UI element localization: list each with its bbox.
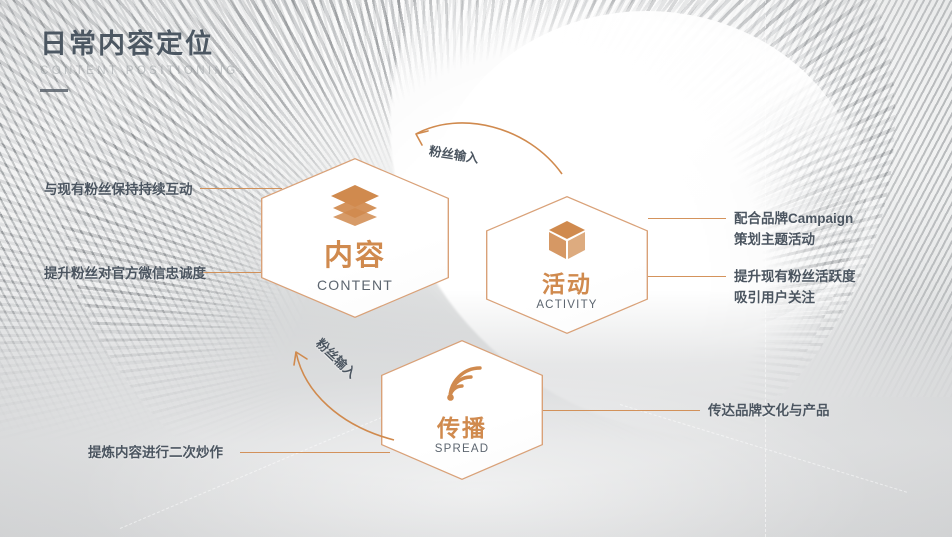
hex-spread-label-cn: 传播 bbox=[437, 416, 487, 440]
page-title-subtitle: CONTENT POSITIONING bbox=[40, 65, 239, 77]
connector-activity-right-top bbox=[648, 218, 726, 219]
hex-node-content[interactable]: 内容 CONTENT bbox=[261, 158, 449, 318]
callout-spread-right: 传达品牌文化与产品 bbox=[708, 401, 830, 422]
connector-activity-right-bottom bbox=[648, 276, 726, 277]
slide-canvas: 日常内容定位 CONTENT POSITIONING 内容 CONTENT bbox=[0, 0, 952, 537]
hex-activity-label-en: ACTIVITY bbox=[536, 299, 597, 311]
callout-activity-right-top-line2: 策划主题活动 bbox=[734, 230, 853, 251]
hex-activity-label-cn: 活动 bbox=[542, 272, 592, 296]
hex-activity-fill: 活动 ACTIVITY bbox=[487, 197, 646, 332]
callout-activity-right-bottom: 提升现有粉丝活跃度 吸引用户关注 bbox=[734, 267, 856, 309]
title-underline-rule bbox=[40, 89, 68, 92]
hex-content-fill: 内容 CONTENT bbox=[262, 159, 447, 316]
callout-content-left-top: 与现有粉丝保持持续互动 bbox=[44, 180, 193, 201]
layers-icon bbox=[329, 183, 381, 227]
arrow-fan-input-top bbox=[402, 112, 572, 182]
connector-spread-left bbox=[240, 452, 390, 453]
broadcast-signal-icon bbox=[442, 365, 482, 405]
cube-icon bbox=[547, 219, 587, 261]
callout-content-left-bottom: 提升粉丝对官方微信忠诚度 bbox=[44, 264, 206, 285]
hex-content-label-en: CONTENT bbox=[317, 277, 393, 293]
connector-spread-right bbox=[540, 410, 700, 411]
hex-node-activity[interactable]: 活动 ACTIVITY bbox=[486, 196, 648, 334]
callout-activity-right-bottom-line2: 吸引用户关注 bbox=[734, 288, 856, 309]
page-title-main: 日常内容定位 bbox=[40, 30, 239, 60]
callout-activity-right-top: 配合品牌Campaign 策划主题活动 bbox=[734, 209, 853, 251]
callout-spread-left: 提炼内容进行二次炒作 bbox=[88, 443, 223, 464]
hex-spread-label-en: SPREAD bbox=[435, 443, 490, 455]
hex-content-label-cn: 内容 bbox=[324, 241, 386, 271]
callout-activity-right-bottom-line1: 提升现有粉丝活跃度 bbox=[734, 267, 856, 288]
callout-activity-right-top-line1: 配合品牌Campaign bbox=[734, 209, 853, 230]
arrow-fan-input-bottom bbox=[282, 330, 412, 450]
page-title: 日常内容定位 CONTENT POSITIONING bbox=[40, 30, 239, 92]
